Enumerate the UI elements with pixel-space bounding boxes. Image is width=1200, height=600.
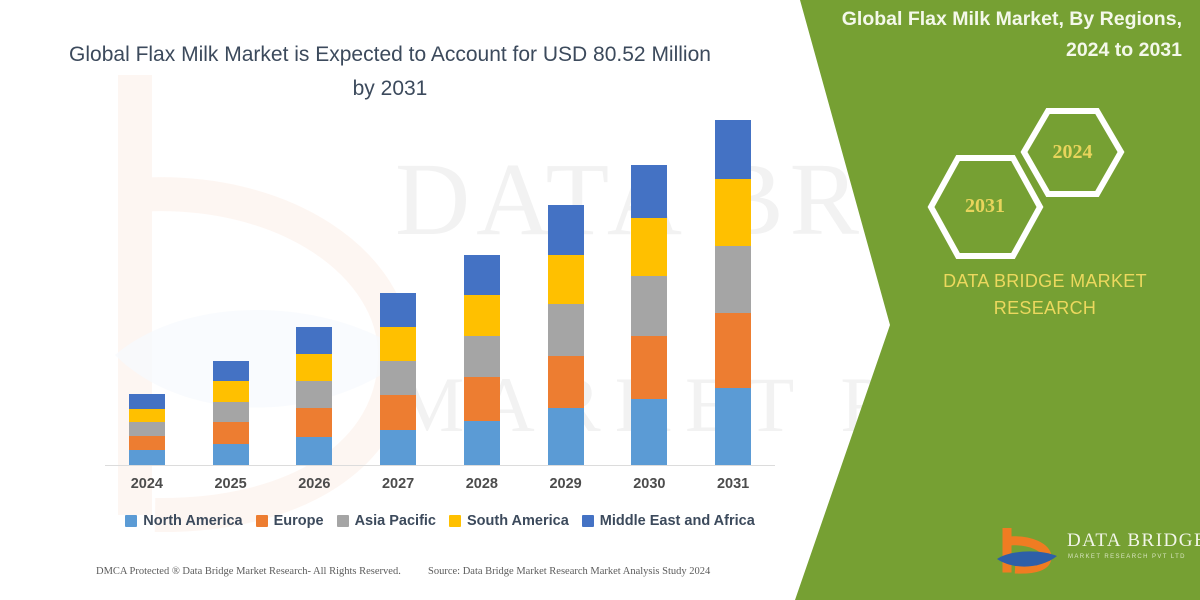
chart-panel: DATA BRIDGE MARKET RESEARCH Global Flax … [0, 0, 900, 600]
bar-segment-europe [631, 336, 667, 399]
panel-title-line-2: 2024 to 2031 [802, 35, 1182, 66]
legend-item-north-america[interactable]: North America [125, 513, 242, 529]
legend-item-south-america[interactable]: South America [449, 513, 569, 529]
x-axis-label-2030: 2030 [608, 470, 691, 498]
stacked-bar [631, 165, 667, 465]
x-axis-label-2026: 2026 [273, 470, 356, 498]
footer-source: Source: Data Bridge Market Research Mark… [428, 566, 710, 577]
legend-label: North America [143, 513, 242, 529]
footer-copyright: DMCA Protected ® Data Bridge Market Rese… [96, 566, 401, 577]
logo-tagline: MARKET RESEARCH PVT LTD [1068, 554, 1186, 560]
bar-segment-asia-pacific [631, 276, 667, 336]
bar-segment-north-america [548, 408, 584, 465]
bar-segment-south-america [213, 381, 249, 401]
bar-segment-middle-east-and-africa [213, 361, 249, 381]
bar-segment-europe [129, 436, 165, 451]
legend-label: Middle East and Africa [600, 513, 755, 529]
footer: DMCA Protected ® Data Bridge Market Rese… [0, 566, 900, 588]
x-axis-label-2027: 2027 [357, 470, 440, 498]
x-axis-labels: 20242025202620272028202920302031 [105, 470, 775, 498]
bar-segment-middle-east-and-africa [464, 255, 500, 296]
x-axis-line [105, 465, 775, 466]
bar-segment-europe [548, 356, 584, 408]
bar-segment-europe [296, 408, 332, 436]
bar-segment-europe [464, 377, 500, 421]
legend-swatch-icon [582, 515, 594, 527]
logo-wordmark: DATA BRIDGE [1067, 530, 1200, 552]
bar-segment-south-america [380, 327, 416, 361]
brand-name: DATA BRIDGE MARKET RESEARCH [905, 268, 1185, 322]
legend-swatch-icon [125, 515, 137, 527]
infographic-canvas: DATA BRIDGE MARKET RESEARCH Global Flax … [0, 0, 1200, 600]
bar-column-2024 [105, 120, 188, 465]
stacked-bar [548, 205, 584, 465]
bar-segment-north-america [631, 399, 667, 465]
bar-segment-middle-east-and-africa [296, 327, 332, 354]
bar-segment-north-america [296, 437, 332, 465]
bar-segment-asia-pacific [548, 304, 584, 356]
bar-segment-south-america [296, 354, 332, 381]
x-axis-label-2025: 2025 [189, 470, 272, 498]
legend-label: Europe [274, 513, 324, 529]
bar-segment-asia-pacific [715, 246, 751, 314]
legend-item-middle-east-and-africa[interactable]: Middle East and Africa [582, 513, 755, 529]
brand-line-1: DATA BRIDGE MARKET [905, 268, 1185, 295]
bar-segment-north-america [464, 421, 500, 465]
bar-segment-asia-pacific [464, 336, 500, 377]
panel-title: Global Flax Milk Market, By Regions, 202… [802, 4, 1182, 66]
bar-chart-bars [105, 120, 775, 465]
bar-segment-middle-east-and-africa [129, 394, 165, 409]
bar-segment-north-america [715, 388, 751, 465]
bar-column-2029 [524, 120, 607, 465]
x-axis-label-2024: 2024 [105, 470, 188, 498]
bar-column-2025 [189, 120, 272, 465]
bar-segment-north-america [380, 430, 416, 465]
bar-segment-asia-pacific [380, 361, 416, 395]
legend-item-asia-pacific[interactable]: Asia Pacific [337, 513, 436, 529]
x-axis-label-2028: 2028 [440, 470, 523, 498]
bar-column-2028 [440, 120, 523, 465]
data-bridge-logo-icon [995, 528, 1063, 578]
bar-segment-asia-pacific [129, 422, 165, 436]
legend-label: South America [467, 513, 569, 529]
legend-label: Asia Pacific [355, 513, 436, 529]
bar-segment-north-america [129, 450, 165, 465]
bar-column-2031 [692, 120, 775, 465]
bar-column-2030 [608, 120, 691, 465]
bar-column-2026 [273, 120, 356, 465]
x-axis-label-2031: 2031 [692, 470, 775, 498]
hexagon-group: 2024 2031 [925, 105, 1175, 230]
bar-segment-south-america [715, 179, 751, 246]
bar-segment-south-america [548, 255, 584, 305]
legend-swatch-icon [337, 515, 349, 527]
bar-segment-asia-pacific [213, 402, 249, 422]
stacked-bar [296, 327, 332, 465]
chart-legend: North AmericaEuropeAsia PacificSouth Ame… [105, 508, 775, 534]
stacked-bar [213, 361, 249, 465]
bar-segment-middle-east-and-africa [380, 293, 416, 327]
bar-segment-north-america [213, 444, 249, 465]
brand-line-2: RESEARCH [905, 295, 1185, 322]
bar-segment-europe [715, 313, 751, 388]
stacked-bar [129, 394, 165, 465]
bar-segment-south-america [464, 295, 500, 336]
bar-segment-europe [213, 422, 249, 443]
bar-column-2027 [357, 120, 440, 465]
stacked-bar [380, 293, 416, 465]
legend-swatch-icon [449, 515, 461, 527]
bar-segment-europe [380, 395, 416, 430]
bar-segment-south-america [129, 409, 165, 423]
chart-title: Global Flax Milk Market is Expected to A… [60, 38, 720, 106]
company-logo: DATA BRIDGE MARKET RESEARCH PVT LTD [995, 528, 1190, 580]
stacked-bar [715, 120, 751, 465]
hexagon-2031-label: 2031 [925, 195, 1045, 218]
bar-segment-middle-east-and-africa [715, 120, 751, 179]
legend-item-europe[interactable]: Europe [256, 513, 324, 529]
bar-segment-asia-pacific [296, 381, 332, 408]
bar-segment-south-america [631, 218, 667, 276]
hexagon-2031: 2031 [925, 153, 1045, 261]
panel-title-line-1: Global Flax Milk Market, By Regions, [802, 4, 1182, 35]
stacked-bar [464, 255, 500, 465]
bar-segment-middle-east-and-africa [548, 205, 584, 255]
bar-segment-middle-east-and-africa [631, 165, 667, 218]
x-axis-label-2029: 2029 [524, 470, 607, 498]
legend-swatch-icon [256, 515, 268, 527]
